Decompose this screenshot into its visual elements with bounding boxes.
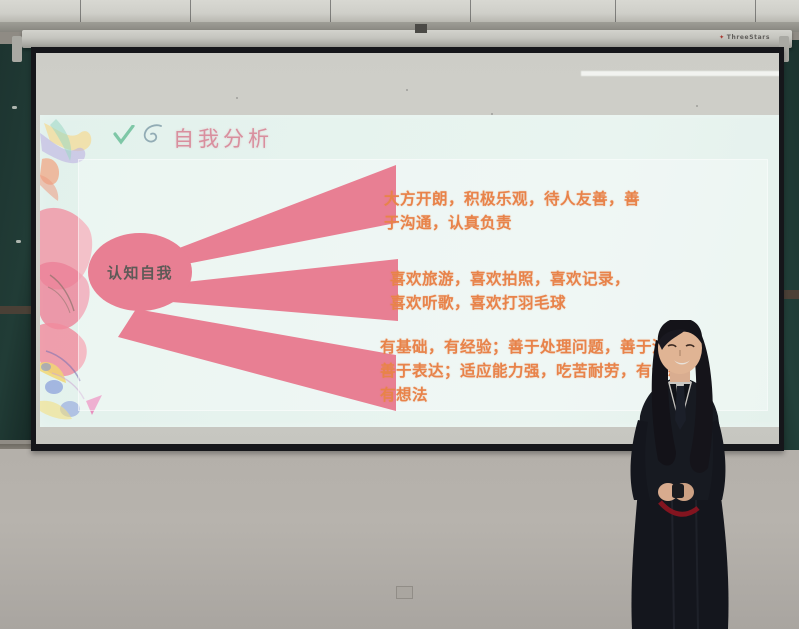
roller-mount-bracket — [415, 24, 427, 33]
center-node-label: 认知自我 — [107, 262, 173, 283]
projector-screen-roller[interactable]: ✦ThreeStars — [22, 30, 792, 48]
presenter — [620, 320, 780, 629]
wall-outlet — [396, 586, 413, 599]
ceiling — [0, 0, 799, 22]
swirl-flourish-icon — [138, 123, 164, 149]
slide-header: 自我分析 — [40, 115, 779, 159]
roller-end-cap-left — [12, 36, 22, 62]
check-mark-icon — [113, 125, 135, 147]
branch-text-2: 喜欢旅游，喜欢拍照，喜欢记录， 喜欢听歌，喜欢打羽毛球 — [390, 267, 742, 315]
brand-star-icon: ✦ — [719, 34, 725, 41]
classroom-scene: ⑧ ⑨ ⑩ ⑪ ①:48 ②:2 ③:2 ④:2 ⑤ ⑥ ✦ThreeStars — [0, 0, 799, 629]
screen-light-reflection — [581, 71, 779, 76]
center-node: 认知自我 — [88, 233, 192, 311]
slide-title: 自我分析 — [173, 123, 273, 153]
branch-text-1: 大方开朗，积极乐观，待人友善，善 于沟通，认真负责 — [384, 187, 736, 235]
screen-brand-label: ✦ThreeStars — [719, 34, 770, 41]
